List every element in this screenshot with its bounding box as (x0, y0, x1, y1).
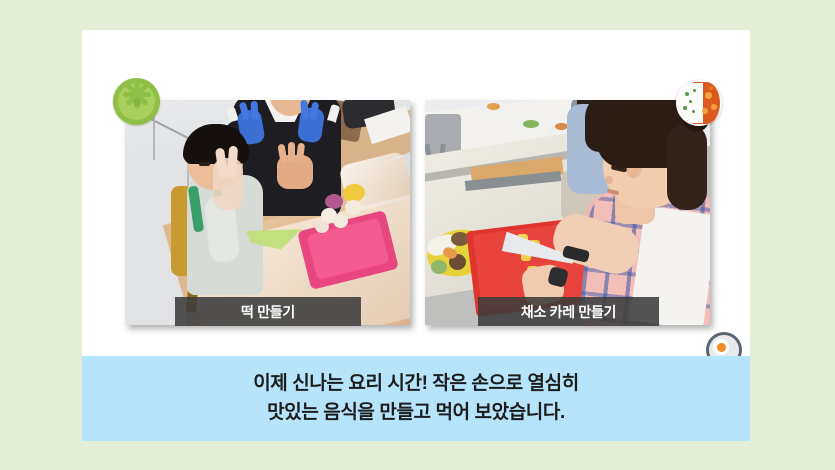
rice-cake-dough-purple (325, 194, 343, 209)
lime-core (133, 98, 141, 106)
caption-text: 채소 카레 만들기 (521, 302, 616, 322)
vegetable-zucchini (431, 260, 447, 274)
rice-cake-dough-white (345, 200, 362, 215)
child-hair-side (667, 124, 707, 210)
fried-egg-yolk (717, 343, 726, 352)
far-plate-food (487, 103, 500, 110)
summary-line-1: 이제 신나는 요리 시간! 작은 손으로 열심히 (253, 372, 579, 396)
curry-plate-icon (676, 80, 722, 126)
lime-slice-inner (118, 83, 155, 120)
slide-canvas: 떡 만들기 채소 카레 만들기 (0, 0, 835, 470)
lime-slice-icon (113, 78, 160, 125)
photo-caption-rice-cake: 떡 만들기 (175, 297, 361, 326)
summary-caption-band: 이제 신나는 요리 시간! 작은 손으로 열심히 맛있는 음식을 만들고 먹어 … (82, 356, 750, 441)
caption-text: 떡 만들기 (241, 302, 295, 322)
photo-vegetable-curry[interactable] (425, 100, 710, 325)
rice-cake-dough-white (315, 220, 329, 233)
far-plate-food (523, 120, 539, 128)
glove-finger (300, 100, 309, 119)
summary-caption-text: 이제 신나는 요리 시간! 작은 손으로 열심히 맛있는 음식을 만들고 먹어 … (82, 356, 750, 441)
photo-caption-vegetable-curry: 채소 카레 만들기 (478, 297, 659, 326)
child-nose (605, 176, 613, 184)
summary-line-2: 맛있는 음식을 만들고 먹어 보았습니다. (267, 401, 565, 425)
finger (288, 142, 295, 162)
curry-rice (679, 83, 703, 123)
rice-cake-dough-white (333, 214, 348, 228)
child-eye (199, 162, 210, 166)
glove-finger (251, 101, 259, 120)
photo-rice-cake[interactable] (125, 100, 410, 325)
